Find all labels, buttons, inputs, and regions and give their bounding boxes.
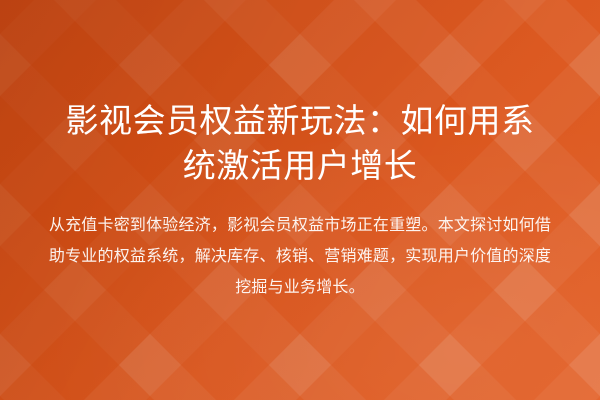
cover-title: 影视会员权益新玩法：如何用系 统激活用户增长 <box>38 98 562 188</box>
cover-subtitle: 从充值卡密到体验经济，影视会员权益市场正在重塑。本文探讨如何借助专业的权益系统，… <box>38 210 562 303</box>
card-content: 影视会员权益新玩法：如何用系 统激活用户增长 从充值卡密到体验经济，影视会员权益… <box>0 0 600 400</box>
article-cover-card: 影视会员权益新玩法：如何用系 统激活用户增长 从充值卡密到体验经济，影视会员权益… <box>0 0 600 400</box>
